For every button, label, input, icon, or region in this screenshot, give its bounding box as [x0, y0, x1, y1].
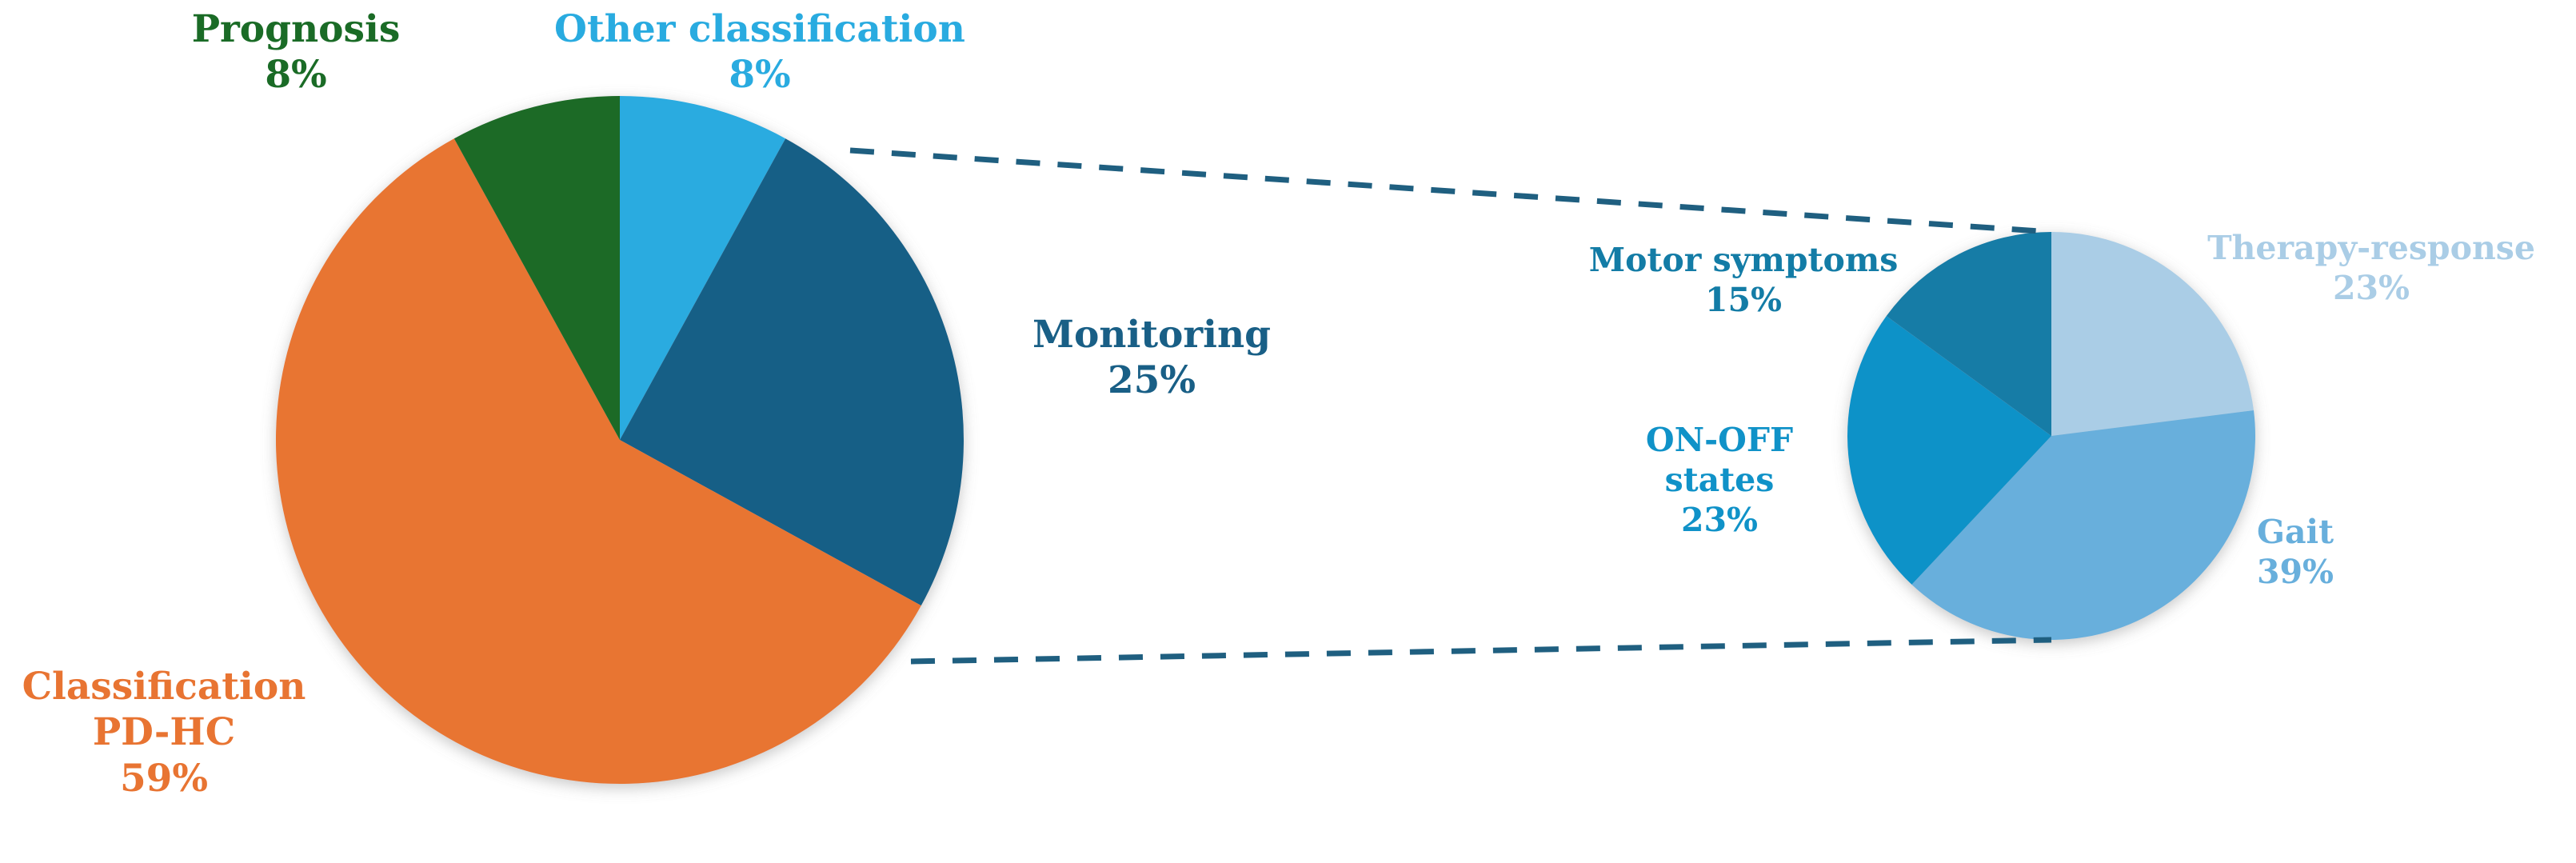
connector-line-top	[850, 150, 2051, 232]
label-therapy-response-name: Therapy-response	[2207, 229, 2535, 267]
label-monitoring-pct: 25%	[928, 358, 1376, 403]
label-prognosis-pct: 8%	[136, 52, 456, 98]
label-motor-symptoms-name: Motor symptoms	[1589, 241, 1899, 279]
label-prognosis-name: Prognosis	[192, 7, 401, 51]
label-classification-pct: 59%	[0, 756, 376, 801]
label-on-off-states: ON-OFF states 23%	[1588, 420, 1851, 540]
label-classification-line1: Classification	[22, 665, 306, 709]
label-on-off-states-line2: states	[1588, 460, 1851, 500]
label-therapy-response-pct: 23%	[2167, 268, 2575, 308]
label-motor-symptoms: Motor symptoms 15%	[1536, 240, 1951, 320]
label-on-off-states-line1: ON-OFF	[1646, 421, 1793, 459]
label-on-off-states-pct: 23%	[1588, 500, 1851, 540]
label-other-classification: Other classification 8%	[512, 6, 1008, 98]
label-monitoring: Monitoring 25%	[928, 312, 1376, 404]
connector-line-bottom	[911, 640, 2051, 661]
label-therapy-response: Therapy-response 23%	[2167, 228, 2575, 308]
label-monitoring-name: Monitoring	[1032, 313, 1271, 357]
main-pie-slices	[276, 96, 964, 784]
label-other-classification-name: Other classification	[554, 7, 965, 51]
pie-chart-canvas	[0, 0, 2576, 863]
label-gait-pct: 39%	[2195, 552, 2395, 592]
label-other-classification-pct: 8%	[512, 52, 1008, 98]
label-gait-name: Gait	[2257, 513, 2334, 551]
pie-chart-figure: Prognosis 8% Other classification 8% Mon…	[0, 0, 2576, 863]
label-motor-symptoms-pct: 15%	[1536, 280, 1951, 320]
label-classification-pdhc: Classification PD-HC 59%	[0, 664, 376, 801]
label-prognosis: Prognosis 8%	[136, 6, 456, 98]
label-classification-line2: PD-HC	[0, 709, 376, 755]
label-gait: Gait 39%	[2195, 512, 2395, 592]
